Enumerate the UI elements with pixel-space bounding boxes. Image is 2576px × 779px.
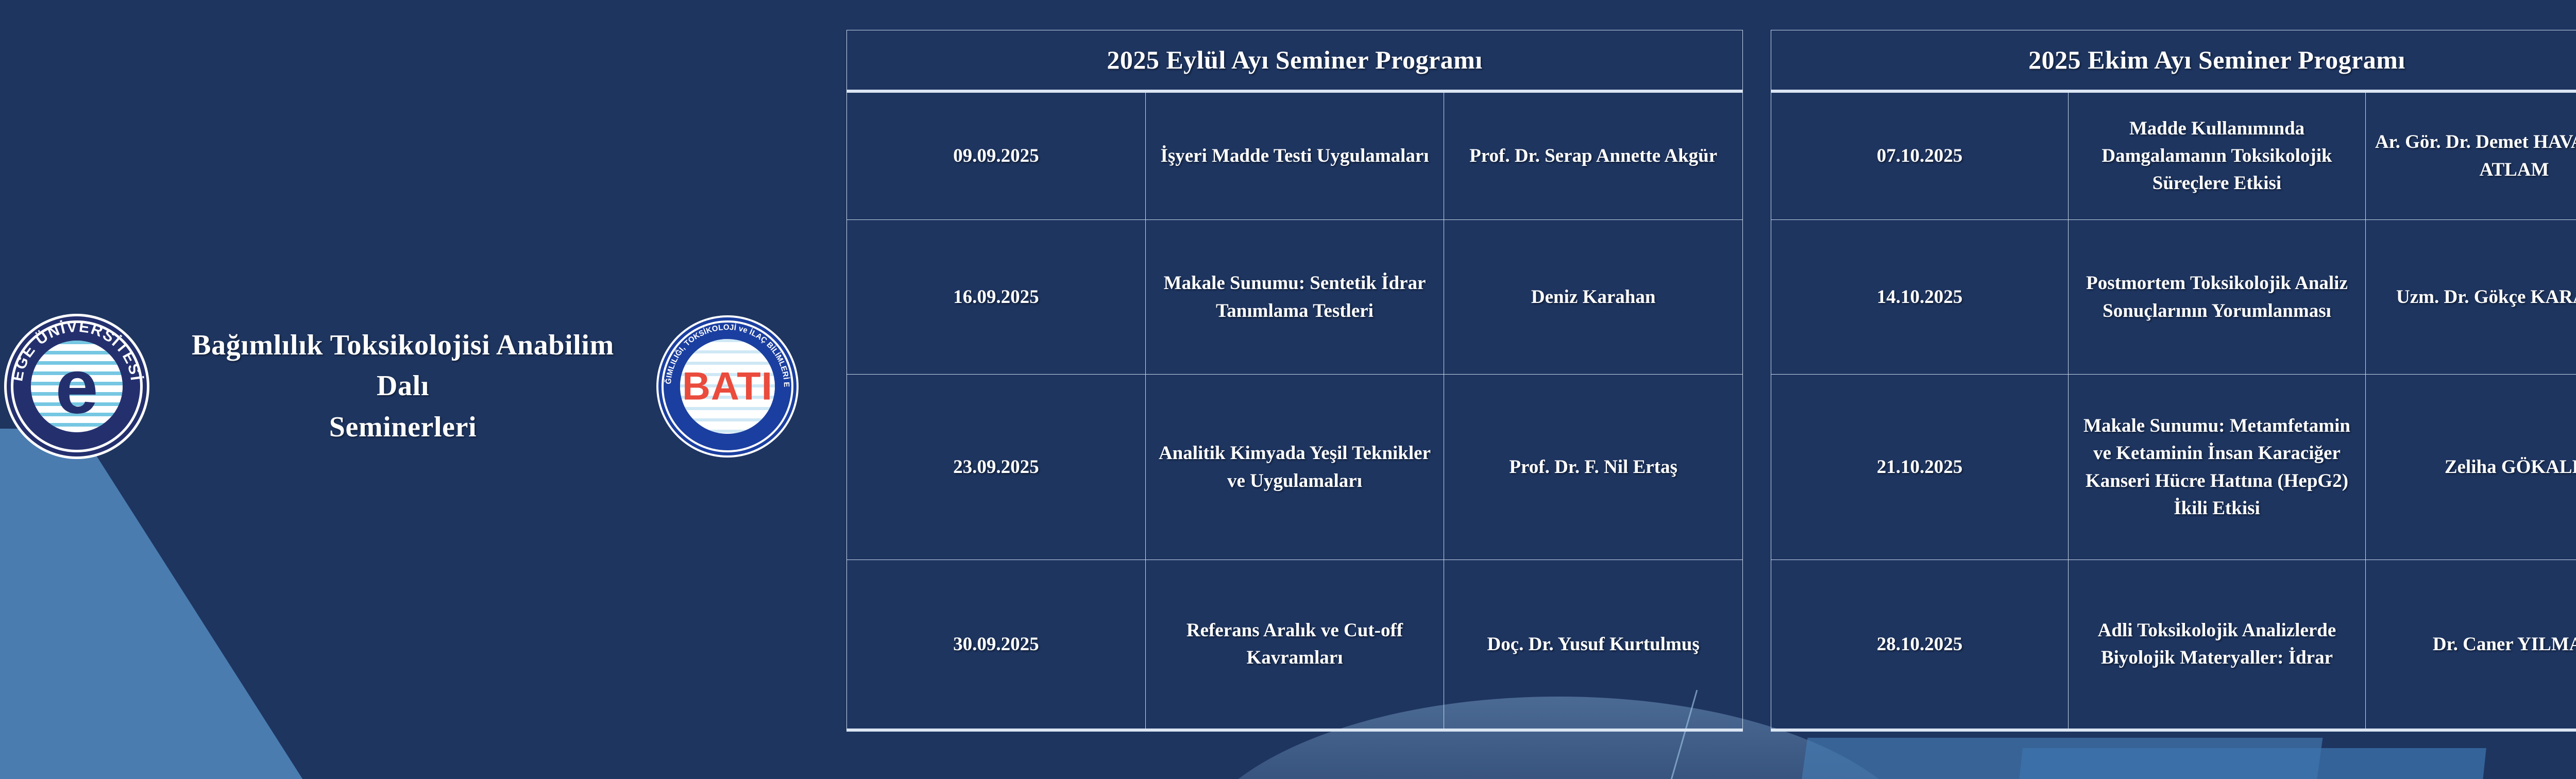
- seminar-table-eylul-container: 2025 Eylül Ayı Seminer Programı 09.09.20…: [846, 30, 1743, 732]
- cell-topic: Adli Toksikolojik Analizlerde Biyolojik …: [2069, 560, 2366, 730]
- cell-speaker: Ar. Gör. Dr. Demet HAVAÇELİĞİ ATLAM: [2366, 91, 2576, 220]
- cell-speaker: Deniz Karahan: [1444, 220, 1743, 375]
- page-title-line-2: Seminerleri: [163, 407, 643, 448]
- table-row: 28.10.2025 Adli Toksikolojik Analizlerde…: [1771, 560, 2576, 730]
- cell-topic: Analitik Kimyada Yeşil Teknikler ve Uygu…: [1145, 375, 1444, 560]
- bati-enstitusu-logo: MADDE BAĞIMLILIĞI, TOKSİKOLOJİ ve İLAÇ B…: [656, 315, 804, 458]
- seminar-table-ekim-container: 2025 Ekim Ayı Seminer Programı 07.10.202…: [1771, 30, 2576, 732]
- cell-date: 14.10.2025: [1771, 220, 2069, 375]
- cell-topic: Makale Sunumu: Metamfetamin ve Ketaminin…: [2069, 375, 2366, 560]
- cell-date: 28.10.2025: [1771, 560, 2069, 730]
- cell-date: 09.09.2025: [847, 91, 1146, 220]
- cell-speaker: Doç. Dr. Yusuf Kurtulmuş: [1444, 560, 1743, 730]
- cell-topic: Referans Aralık ve Cut-off Kavramları: [1145, 560, 1444, 730]
- page-title-line-1: Bağımlılık Toksikolojisi Anabilim Dalı: [163, 325, 643, 407]
- table-row: 09.09.2025 İşyeri Madde Testi Uygulamala…: [847, 91, 1743, 220]
- table-row: 16.09.2025 Makale Sunumu: Sentetik İdrar…: [847, 220, 1743, 375]
- cell-date: 23.09.2025: [847, 375, 1146, 560]
- table-row: 23.09.2025 Analitik Kimyada Yeşil Teknik…: [847, 375, 1743, 560]
- cell-date: 07.10.2025: [1771, 91, 2069, 220]
- seminar-table-eylul: 2025 Eylül Ayı Seminer Programı 09.09.20…: [846, 30, 1743, 732]
- decor-blue-wedge: [0, 429, 309, 779]
- table-header-row: 2025 Eylül Ayı Seminer Programı: [847, 30, 1743, 91]
- cell-topic: Postmortem Toksikolojik Analiz Sonuçları…: [2069, 220, 2366, 375]
- cell-date: 16.09.2025: [847, 220, 1146, 375]
- table-row: 14.10.2025 Postmortem Toksikolojik Anali…: [1771, 220, 2576, 375]
- page-title: Bağımlılık Toksikolojisi Anabilim Dalı S…: [149, 325, 656, 448]
- cell-date: 21.10.2025: [1771, 375, 2069, 560]
- cell-speaker: Dr. Caner YILMAZ: [2366, 560, 2576, 730]
- cell-speaker: Zeliha GÖKALP: [2366, 375, 2576, 560]
- cell-topic: Madde Kullanımında Damgalamanın Toksikol…: [2069, 91, 2366, 220]
- cell-speaker: Prof. Dr. F. Nil Ertaş: [1444, 375, 1743, 560]
- table-header-row: 2025 Ekim Ayı Seminer Programı: [1771, 30, 2576, 91]
- seminar-table-ekim: 2025 Ekim Ayı Seminer Programı 07.10.202…: [1771, 30, 2576, 732]
- cell-speaker: Prof. Dr. Serap Annette Akgür: [1444, 91, 1743, 220]
- brand-block: EGE ÜNİVERSİTESİ 1955 e Bağımlılık Toksi…: [0, 301, 804, 471]
- cell-topic: İşyeri Madde Testi Uygulamaları: [1145, 91, 1444, 220]
- table-title-ekim: 2025 Ekim Ayı Seminer Programı: [1771, 30, 2576, 91]
- decor-bottom-band-2: [2016, 748, 2486, 779]
- table-row: 30.09.2025 Referans Aralık ve Cut-off Ka…: [847, 560, 1743, 730]
- bati-logo-wordmark: BATI: [682, 364, 773, 409]
- cell-speaker: Uzm. Dr. Gökçe KARAMAN: [2366, 220, 2576, 375]
- bati-logo-emblem: BATI: [680, 339, 775, 434]
- ege-logo-emblem: e: [31, 341, 123, 432]
- ege-universitesi-logo: EGE ÜNİVERSİTESİ 1955 e: [0, 314, 149, 459]
- cell-date: 30.09.2025: [847, 560, 1146, 730]
- cell-topic: Makale Sunumu: Sentetik İdrar Tanımlama …: [1145, 220, 1444, 375]
- ege-logo-monogram: e: [55, 355, 98, 418]
- table-row: 07.10.2025 Madde Kullanımında Damgalaman…: [1771, 91, 2576, 220]
- table-title-eylul: 2025 Eylül Ayı Seminer Programı: [847, 30, 1743, 91]
- table-row: 21.10.2025 Makale Sunumu: Metamfetamin v…: [1771, 375, 2576, 560]
